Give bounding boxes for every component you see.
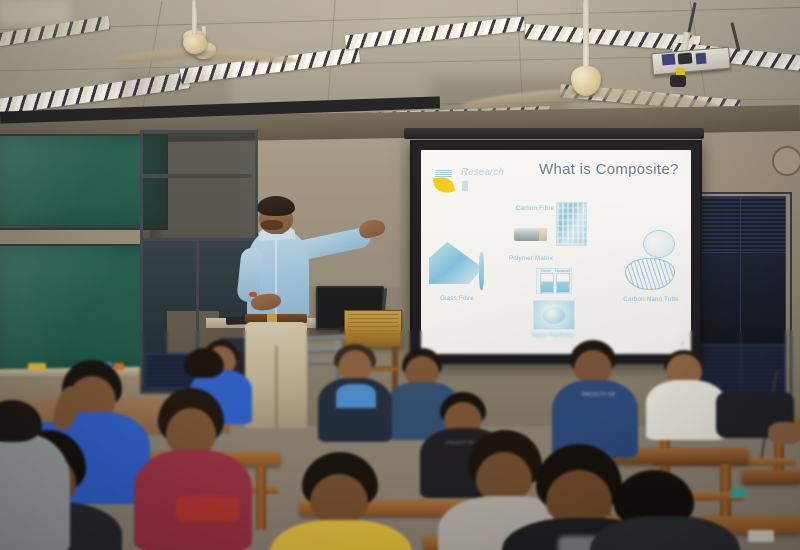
slide-image-nano-sphere bbox=[643, 230, 675, 258]
presenter-wristband bbox=[249, 292, 257, 297]
slide-logo-text: Research bbox=[461, 167, 504, 178]
ceiling-projector bbox=[648, 14, 748, 86]
slide-title: What is Composite? bbox=[539, 161, 679, 178]
vial-label-left: Resin bbox=[539, 269, 553, 273]
desk-item-teal bbox=[730, 488, 746, 498]
presenter-hair bbox=[257, 196, 295, 216]
chalk-box-orange bbox=[114, 363, 124, 370]
projection-screen-surface: Research What is Composite? Carbon Fibre… bbox=[421, 150, 691, 354]
bench-leg bbox=[256, 466, 266, 530]
red-bag bbox=[176, 496, 240, 522]
presentation-slide: Research What is Composite? Carbon Fibre… bbox=[421, 150, 691, 354]
slide-label-polymer-matrix: Polymer Matrix bbox=[503, 254, 559, 263]
wall-clock-icon bbox=[772, 146, 800, 176]
lecture-hall-photo: Research What is Composite? Carbon Fibre… bbox=[0, 0, 800, 550]
presenter-trouser-crease bbox=[275, 346, 278, 428]
window-transom bbox=[140, 174, 252, 178]
vial-label-right: Hardener bbox=[555, 269, 569, 273]
slide-label-glass-fibre: Glass Fibre bbox=[429, 295, 485, 302]
screen-roller-housing bbox=[404, 128, 704, 139]
slide-image-carbon-fabric bbox=[556, 202, 587, 246]
slide-image-nano-particles bbox=[533, 300, 575, 330]
logo-bars-icon bbox=[435, 170, 452, 177]
presenter-beard bbox=[261, 220, 283, 230]
slide-image-resin-vials: Resin Hardener bbox=[536, 268, 572, 294]
slide-image-nanotube bbox=[625, 258, 675, 290]
jersey-print: FACULTY OF bbox=[576, 392, 622, 398]
logo-leaf-icon bbox=[433, 176, 455, 195]
chalk-box-yellow bbox=[28, 363, 46, 370]
desk-far-right bbox=[742, 470, 800, 484]
slide-label-nano-particles: Nano Particles bbox=[523, 332, 583, 339]
ceiling-fan bbox=[120, 8, 320, 78]
slide-image-glass-rod bbox=[479, 252, 484, 290]
desk-item-paper bbox=[748, 530, 774, 542]
logo-block-icon bbox=[462, 181, 468, 191]
slide-image-glass-fibre bbox=[429, 242, 483, 284]
slide-label-carbon-nano-tube: Carbon Nano Tube bbox=[613, 296, 689, 303]
louver-outer-frame bbox=[694, 192, 792, 400]
projection-screen-frame: Research What is Composite? Carbon Fibre… bbox=[410, 140, 702, 364]
presenter-hand-right bbox=[357, 217, 387, 241]
slide-number: 4 bbox=[680, 341, 684, 348]
slide-image-fibre-tow-tip bbox=[539, 228, 547, 241]
